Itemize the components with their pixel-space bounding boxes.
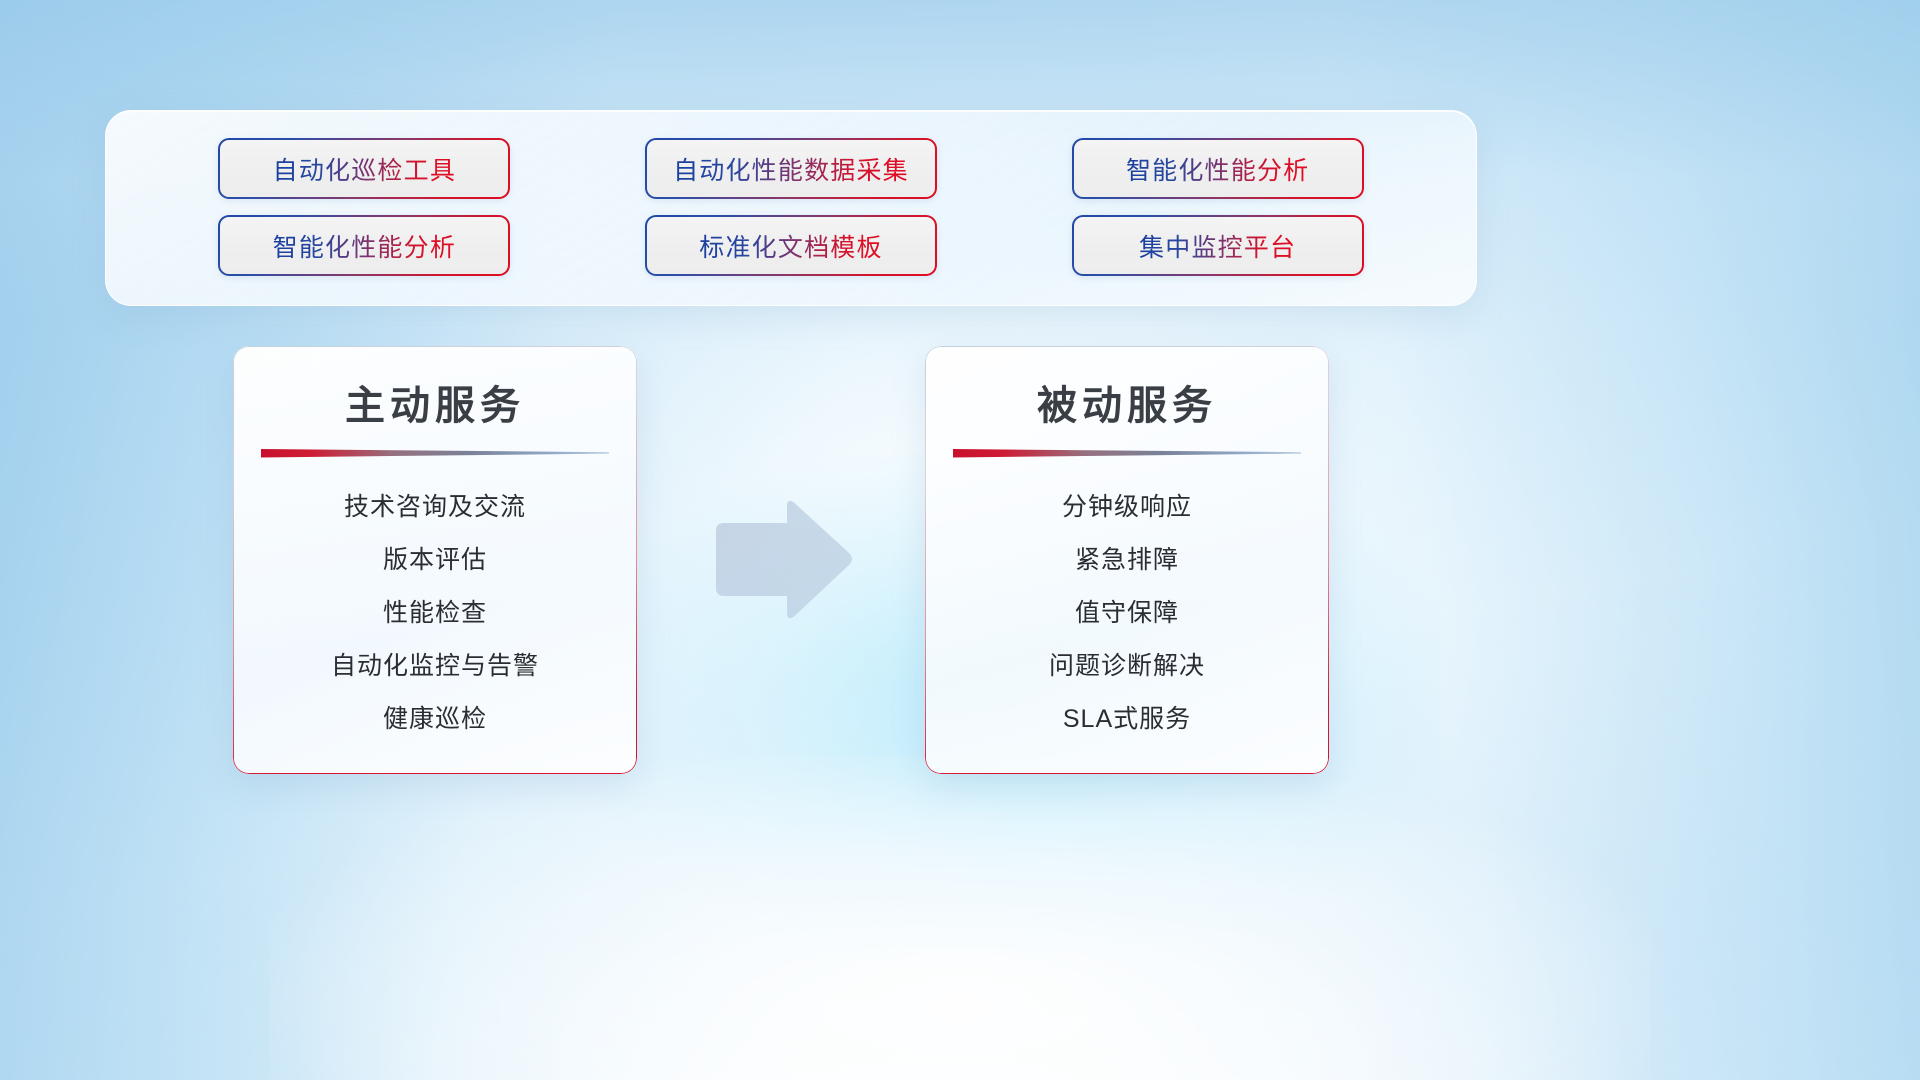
card-title: 主动服务 [233, 373, 637, 431]
list-item: 分钟级响应 [943, 481, 1311, 534]
divider-wedge-icon [953, 447, 1301, 459]
card-divider [953, 447, 1301, 459]
card-item-list: 技术咨询及交流 版本评估 性能检查 自动化监控与告警 健康巡检 [233, 481, 637, 746]
list-item: 性能检查 [251, 587, 619, 640]
capability-pill-standardized-document-template[interactable]: 标准化文档模板 [645, 215, 937, 276]
divider-wedge-icon [261, 447, 609, 459]
list-item: 紧急排障 [943, 534, 1311, 587]
capability-pill-centralized-monitoring-platform[interactable]: 集中监控平台 [1072, 215, 1364, 276]
background-bottom-glow [269, 756, 1651, 1080]
list-item: 技术咨询及交流 [251, 481, 619, 534]
list-item: 自动化监控与告警 [251, 640, 619, 693]
pill-label: 自动化性能数据采集 [673, 151, 909, 187]
capability-pill-automated-performance-data-collection[interactable]: 自动化性能数据采集 [645, 138, 937, 199]
list-item: 健康巡检 [251, 693, 619, 746]
capability-pill-intelligent-performance-analysis-1[interactable]: 智能化性能分析 [1072, 138, 1364, 199]
service-card-reactive[interactable]: 被动服务 分钟级响应 紧急排障 值守保障 问题诊断解决 SLA式服务 [925, 346, 1329, 774]
pill-inner: 自动化巡检工具 [220, 140, 508, 197]
list-item: SLA式服务 [943, 693, 1311, 746]
list-item: 值守保障 [943, 587, 1311, 640]
list-item: 问题诊断解决 [943, 640, 1311, 693]
pill-label: 智能化性能分析 [1126, 151, 1309, 187]
list-item: 版本评估 [251, 534, 619, 587]
capabilities-grid: 自动化巡检工具 自动化性能数据采集 智能化性能分析 智能化性能分析 标准化文档模… [106, 111, 1476, 305]
pill-inner: 自动化性能数据采集 [647, 140, 935, 197]
capability-pill-automated-inspection-tool[interactable]: 自动化巡检工具 [218, 138, 510, 199]
capabilities-panel: 自动化巡检工具 自动化性能数据采集 智能化性能分析 智能化性能分析 标准化文档模… [105, 110, 1477, 306]
flow-arrow [708, 497, 854, 623]
service-card-proactive[interactable]: 主动服务 技术咨询及交流 版本评估 性能检查 自动化监控与告警 健康巡检 [233, 346, 637, 774]
pill-label: 自动化巡检工具 [273, 151, 456, 187]
pill-inner: 集中监控平台 [1074, 217, 1362, 274]
arrow-right-icon [708, 497, 854, 623]
pill-label: 集中监控平台 [1139, 228, 1296, 264]
pill-inner: 智能化性能分析 [220, 217, 508, 274]
card-title: 被动服务 [925, 373, 1329, 431]
pill-inner: 标准化文档模板 [647, 217, 935, 274]
pill-label: 智能化性能分析 [273, 228, 456, 264]
card-item-list: 分钟级响应 紧急排障 值守保障 问题诊断解决 SLA式服务 [925, 481, 1329, 746]
card-divider [261, 447, 609, 459]
pill-label: 标准化文档模板 [699, 228, 882, 264]
pill-inner: 智能化性能分析 [1074, 140, 1362, 197]
capability-pill-intelligent-performance-analysis-2[interactable]: 智能化性能分析 [218, 215, 510, 276]
